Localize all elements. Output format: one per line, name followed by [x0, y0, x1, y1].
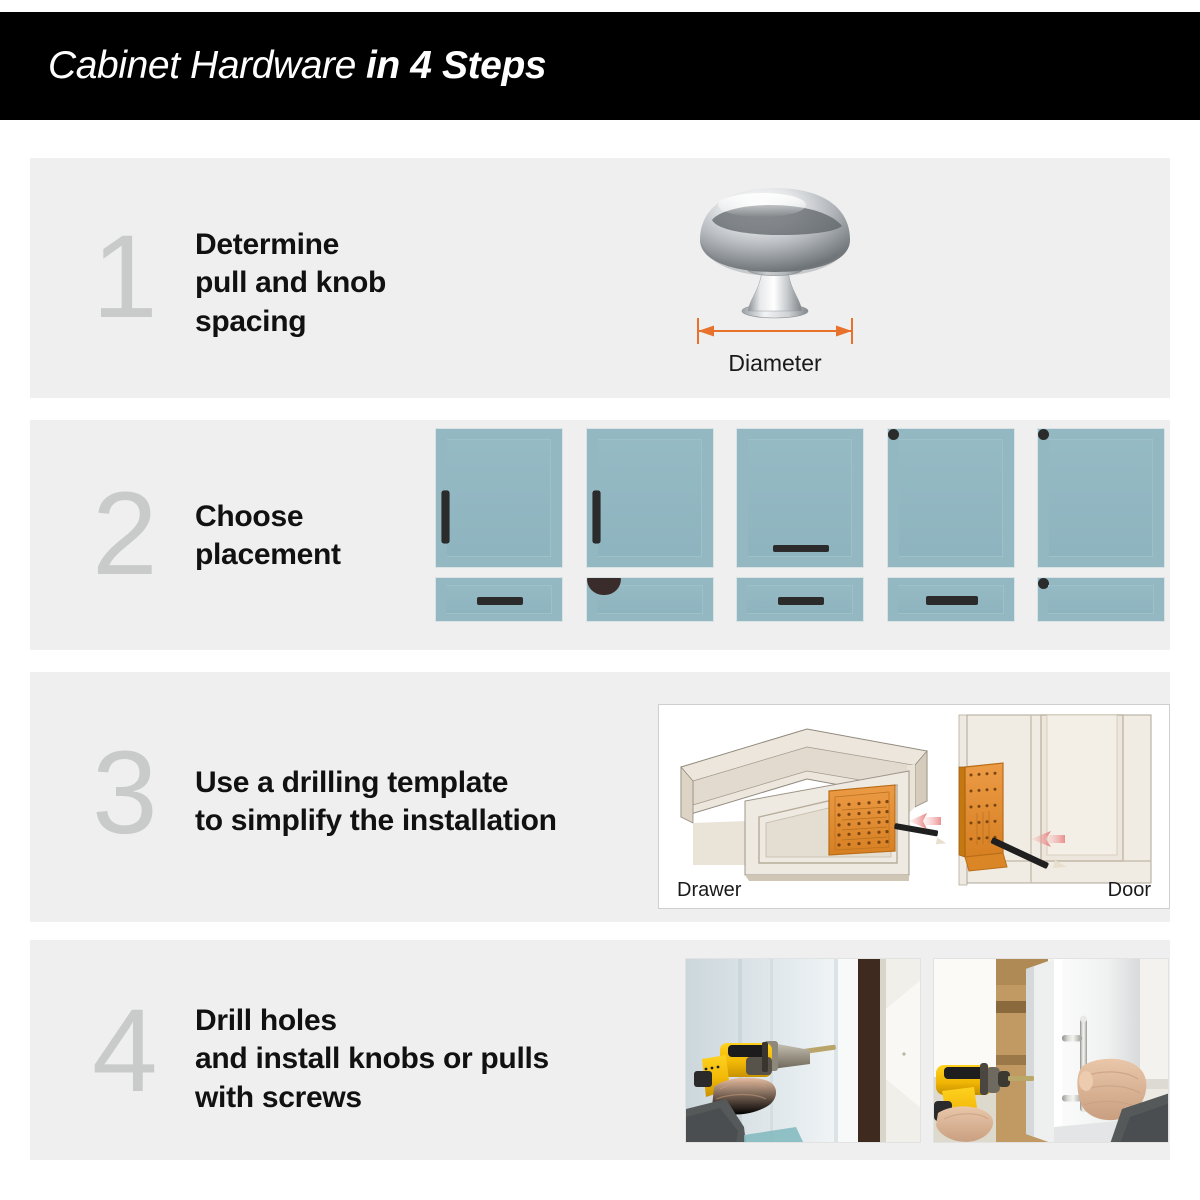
vertical-bar-pull-icon [593, 491, 600, 543]
step-4-line-2: and install knobs or pulls [195, 1040, 549, 1078]
cabinet-option-2 [586, 428, 714, 622]
template-diagram-svg [659, 705, 1169, 908]
drawer-bar-pull-icon [926, 596, 978, 605]
step-4-line-3: with screws [195, 1079, 549, 1117]
cabinet-door [887, 428, 1015, 568]
step-1-line-2: pull and knob [195, 264, 386, 302]
door-illustration [959, 715, 1151, 885]
step-1-line-1: Determine [195, 226, 386, 264]
step-3-line-2: to simplify the installation [195, 802, 557, 840]
shaker-panel [748, 439, 852, 557]
diameter-dimension-arrow [698, 318, 852, 344]
step-text-1: Determine pull and knob spacing [195, 226, 386, 341]
step-text-3: Use a drilling template to simplify the … [195, 764, 557, 841]
drawer-illustration [681, 729, 947, 881]
shaker-panel [1048, 585, 1154, 614]
cabinet-door [736, 428, 864, 568]
cabinet-option-4 [887, 428, 1015, 622]
step-panel-1: 1 Determine pull and knob spacing [30, 158, 1170, 398]
drawer-bar-pull-icon [477, 597, 523, 605]
header-bar: Cabinet Hardwarein 4 Steps [0, 12, 1200, 120]
photo-1-svg [686, 959, 921, 1143]
shaker-panel [447, 439, 551, 557]
arrowhead-right [836, 326, 852, 337]
cabinet-option-1 [435, 428, 563, 622]
step-number-2: 2 [92, 475, 158, 593]
knob-illustration [670, 178, 880, 353]
horizontal-bar-pull-icon [773, 545, 829, 552]
knob-icon [888, 429, 899, 440]
title-part-light: Cabinet Hardware [48, 44, 356, 87]
shaker-panel [598, 439, 702, 557]
cabinet-door [435, 428, 563, 568]
shaker-panel [1049, 439, 1153, 557]
drilling-template-illustration: Drawer Door [658, 704, 1170, 909]
door-caption: Door [1108, 879, 1151, 902]
cabinet-door [1037, 428, 1165, 568]
step-2-line-1: Choose [195, 498, 341, 536]
step-3-line-1: Use a drilling template [195, 764, 557, 802]
step-text-4: Drill holes and install knobs or pulls w… [195, 1002, 549, 1117]
cabinet-door [586, 428, 714, 568]
cabinet-drawer [736, 577, 864, 622]
photo-2-svg [934, 959, 1169, 1143]
step-4-line-1: Drill holes [195, 1002, 549, 1040]
step-number-3: 3 [92, 734, 158, 852]
step-number-4: 4 [92, 992, 158, 1110]
drawer-template [829, 785, 895, 855]
photo-drilling-hole: Yellow cordless drill boring a hole in a… [685, 958, 921, 1143]
drawer-caption: Drawer [677, 879, 741, 902]
step-1-line-3: spacing [195, 303, 386, 341]
photo-installing-pull: Hand holding a stainless bar pull while … [933, 958, 1169, 1143]
door-template [959, 763, 1007, 871]
cabinet-option-5 [1037, 428, 1165, 622]
cabinet-drawer [435, 577, 563, 622]
infographic-page: Cabinet Hardwarein 4 Steps 1 Determine p… [0, 0, 1200, 1200]
page-title: Cabinet Hardwarein 4 Steps [48, 44, 546, 88]
cabinet-drawer [887, 577, 1015, 622]
arrowhead-left [698, 326, 714, 337]
shaker-panel [899, 439, 1003, 557]
vertical-bar-pull-icon [442, 491, 449, 543]
diameter-label: Diameter [670, 350, 880, 377]
step-number-1: 1 [92, 218, 158, 336]
drawer-bar-pull-icon [778, 597, 824, 605]
step-panel-3: 3 Use a drilling template to simplify th… [30, 672, 1170, 922]
cabinet-option-3 [736, 428, 864, 622]
knob-diagram: Diameter [670, 178, 880, 393]
title-part-bold: in 4 Steps [366, 44, 546, 87]
cabinet-placement-options [435, 428, 1165, 640]
step-2-line-2: placement [195, 536, 341, 574]
knob-icon [1038, 429, 1049, 440]
step-panel-2: 2 Choose placement [30, 420, 1170, 650]
step-panel-4: 4 Drill holes and install knobs or pulls… [30, 940, 1170, 1160]
installation-photos: Yellow cordless drill boring a hole in a… [685, 958, 1170, 1143]
cabinet-drawer [1037, 577, 1165, 622]
step-text-2: Choose placement [195, 498, 341, 575]
cabinet-drawer [586, 577, 714, 622]
